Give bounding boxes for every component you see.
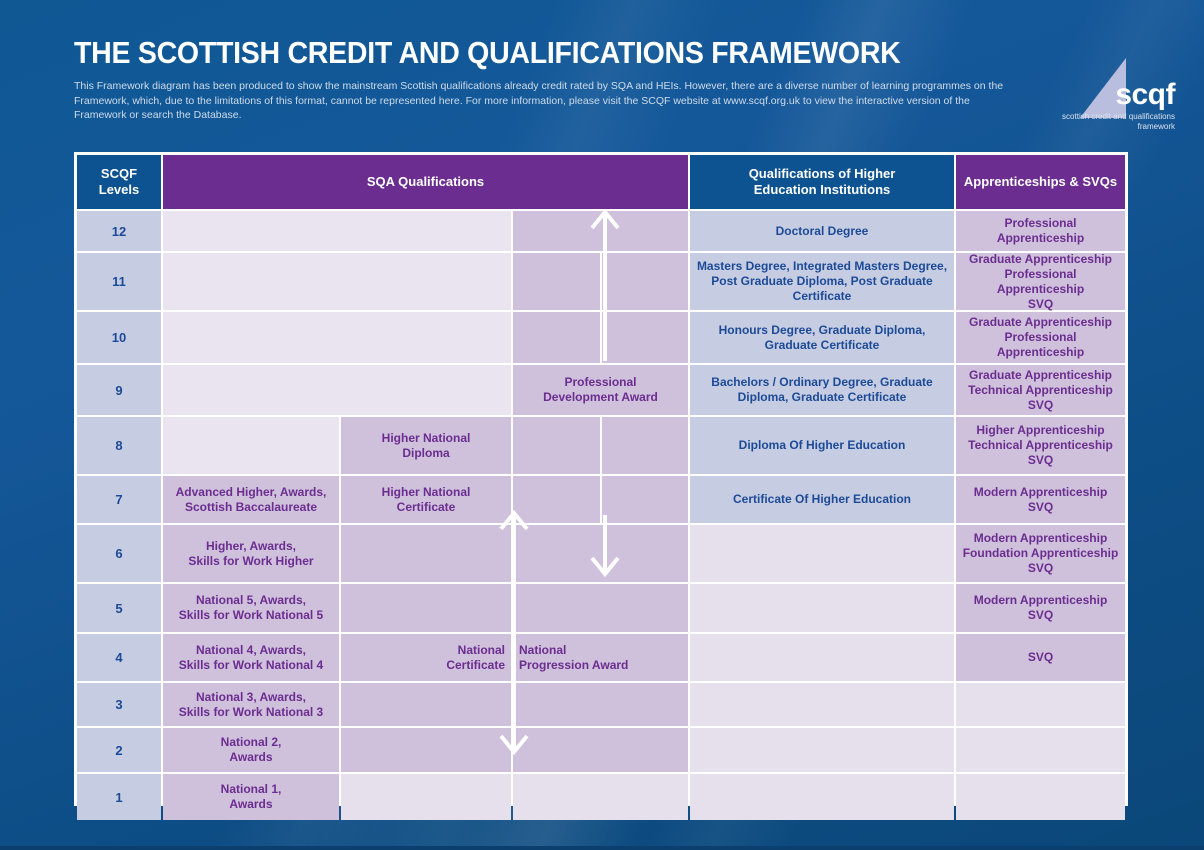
sqa-1a-l2: Awards [229,797,272,811]
sqa-cell-7-b: Higher National Certificate [341,476,511,523]
sqa-cell-5-b [341,584,511,632]
sqa-cell-5-c [513,584,688,632]
level-cell-11: 11 [77,253,161,310]
sqa-6a-l1: Higher, Awards, [206,539,296,553]
sqa-cell-1-b [341,774,511,820]
framework-table-frame: SCQF Levels SQA Qualifications Qualifica… [74,152,1128,806]
column-header-apprenticeships: Apprenticeships & SVQs [956,155,1125,209]
appr-11-l2: Professional Apprenticeship [997,267,1084,296]
sqa-cell-6-a: Higher, Awards, Skills for Work Higher [163,525,339,582]
sqa-cell-10-c [513,312,688,363]
appr-cell-11: Graduate Apprenticeship Professional App… [956,253,1125,310]
sqa-cell-11-a [163,253,511,310]
sqa-2a-l1: National 2, [221,735,282,749]
appr-10-l2: Professional Apprenticeship [997,330,1084,359]
level-cell-7: 7 [77,476,161,523]
appr-9-l3: SVQ [1028,398,1053,412]
appr-cell-5: Modern Apprenticeship SVQ [956,584,1125,632]
column-header-scqf-levels: SCQF Levels [77,155,161,209]
header-hei-line1: Qualifications of Higher [749,166,896,181]
sqa-cell-12-a [163,211,511,251]
appr-11-l1: Graduate Apprenticeship [969,252,1112,266]
hei-cell-1 [690,774,954,820]
intro-paragraph: This Framework diagram has been produced… [74,79,1009,123]
appr-cell-7: Modern Apprenticeship SVQ [956,476,1125,523]
sqa-cell-2-c [513,728,688,772]
sqa-8-l2: Diploma [402,446,449,460]
sqa-cell-9-a [163,365,511,415]
sqa-cell-4-a: National 4, Awards, Skills for Work Nati… [163,634,339,681]
sqa-cell-11-c [513,253,688,310]
appr-6-l1: Modern Apprenticeship [974,531,1108,545]
sqa-7a-l2: Scottish Baccalaureate [185,500,317,514]
bottom-edge-bar [0,846,1204,850]
sqa-cell-8-b: Higher National Diploma [341,417,511,474]
sqa-cell-1-c [513,774,688,820]
sqa-cell-8-a [163,417,339,474]
hei-cell-6 [690,525,954,582]
sqa-4b-l1: National [458,643,505,657]
hei-cell-10: Honours Degree, Graduate Diploma, Gradua… [690,312,954,363]
appr-10-l1: Graduate Apprenticeship [969,315,1112,329]
level-cell-1: 1 [77,774,161,820]
appr-5-l1: Modern Apprenticeship [974,593,1108,607]
sqa-4c-l1: National [519,643,566,657]
sqa-cell-3-a: National 3, Awards, Skills for Work Nati… [163,683,339,726]
level-cell-8: 8 [77,417,161,474]
hei-cell-3 [690,683,954,726]
level-cell-5: 5 [77,584,161,632]
hei-cell-10-text: Honours Degree, Graduate Diploma, Gradua… [696,323,948,353]
framework-grid: SCQF Levels SQA Qualifications Qualifica… [77,155,1125,803]
column-header-sqa-qualifications: SQA Qualifications [163,155,688,209]
page-header: THE SCOTTISH CREDIT AND QUALIFICATIONS F… [74,36,1034,123]
sqa-cell-6-b [341,525,511,582]
appr-8-l1: Higher Apprenticeship [976,423,1104,437]
level-cell-4: 4 [77,634,161,681]
appr-9-l1: Graduate Apprenticeship [969,368,1112,382]
appr-8-l3: SVQ [1028,453,1053,467]
sqa-2a-l2: Awards [229,750,272,764]
appr-7-l1: Modern Apprenticeship [974,485,1108,499]
hei-cell-9: Bachelors / Ordinary Degree, Graduate Di… [690,365,954,415]
column-header-hei-qualifications: Qualifications of Higher Education Insti… [690,155,954,209]
scqf-logo: scqf scottish credit and qualifications … [1028,56,1188,136]
sqa-cell-7-a: Advanced Higher, Awards, Scottish Baccal… [163,476,339,523]
header-levels-line1: SCQF [101,166,137,181]
appr-5-l2: SVQ [1028,608,1053,622]
hei-cell-11: Masters Degree, Integrated Masters Degre… [690,253,954,310]
sqa-cell-8-c [513,417,688,474]
appr-6-l3: SVQ [1028,561,1053,575]
sqa-4c-l2: Progression Award [519,658,628,672]
sqa-4a-l1: National 4, Awards, [196,643,306,657]
sqa-cell-4-c: National Progression Award [513,634,688,681]
sqa-1a-l1: National 1, [221,782,282,796]
level-cell-6: 6 [77,525,161,582]
level-cell-12: 12 [77,211,161,251]
appr-6-l2: Foundation Apprenticeship [963,546,1119,560]
sqa-cell-3-b [341,683,511,726]
appr-cell-9: Graduate Apprenticeship Technical Appren… [956,365,1125,415]
level-cell-9: 9 [77,365,161,415]
appr-cell-6: Modern Apprenticeship Foundation Apprent… [956,525,1125,582]
appr-8-l2: Technical Apprenticeship [968,438,1113,452]
hei-cell-4 [690,634,954,681]
sqa-cell-2-a: National 2, Awards [163,728,339,772]
sqa-cell-12-c [513,211,688,251]
sqa-cell-7-c [513,476,688,523]
appr-11-l3: SVQ [1028,297,1053,311]
sqa-cell-6-c [513,525,688,582]
sqa-cell-5-a: National 5, Awards, Skills for Work Nati… [163,584,339,632]
sqa-9-l1: Professional [564,375,636,389]
hei-cell-7: Certificate Of Higher Education [690,476,954,523]
hei-cell-8: Diploma Of Higher Education [690,417,954,474]
page-title: THE SCOTTISH CREDIT AND QUALIFICATIONS F… [74,36,957,70]
level-cell-2: 2 [77,728,161,772]
header-levels-line2: Levels [99,182,139,197]
hei-cell-12: Doctoral Degree [690,211,954,251]
hei-cell-9-text: Bachelors / Ordinary Degree, Graduate Di… [696,375,948,405]
sqa-6a-l2: Skills for Work Higher [188,554,313,568]
appr-9-l2: Technical Apprenticeship [968,383,1113,397]
level-cell-3: 3 [77,683,161,726]
appr-cell-3 [956,683,1125,726]
sqa-7a-l1: Advanced Higher, Awards, [176,485,327,499]
sqa-cell-10-a [163,312,511,363]
hei-cell-5 [690,584,954,632]
logo-strapline: scottish credit and qualifications frame… [1025,112,1175,132]
appr-cell-8: Higher Apprenticeship Technical Apprenti… [956,417,1125,474]
sqa-8-l1: Higher National [382,431,471,445]
appr-cell-12: Professional Apprenticeship [956,211,1125,251]
sqa-cell-1-a: National 1, Awards [163,774,339,820]
sqa-3a-l1: National 3, Awards, [196,690,306,704]
logo-wordmark: scqf [1115,80,1175,110]
appr-cell-4: SVQ [956,634,1125,681]
sqa-cell-4-b: National Certificate [341,634,511,681]
sqa-cell-2-b [341,728,511,772]
appr-7-l2: SVQ [1028,500,1053,514]
sqa-5a-l2: Skills for Work National 5 [179,608,323,622]
hei-cell-11-text: Masters Degree, Integrated Masters Degre… [696,259,948,304]
sqa-5a-l1: National 5, Awards, [196,593,306,607]
sqa-9-l2: Development Award [543,390,658,404]
appr-cell-2 [956,728,1125,772]
appr-cell-10: Graduate Apprenticeship Professional App… [956,312,1125,363]
header-hei-line2: Education Institutions [754,182,891,197]
sqa-cell-3-c [513,683,688,726]
level-cell-10: 10 [77,312,161,363]
sqa-cell-9-c: Professional Development Award [513,365,688,415]
sqa-4a-l2: Skills for Work National 4 [179,658,323,672]
sqa-3a-l2: Skills for Work National 3 [179,705,323,719]
sqa-7b-l2: Certificate [397,500,456,514]
sqa-4b-l2: Certificate [446,658,505,672]
appr-cell-1 [956,774,1125,820]
sqa-7b-l1: Higher National [382,485,471,499]
hei-cell-2 [690,728,954,772]
